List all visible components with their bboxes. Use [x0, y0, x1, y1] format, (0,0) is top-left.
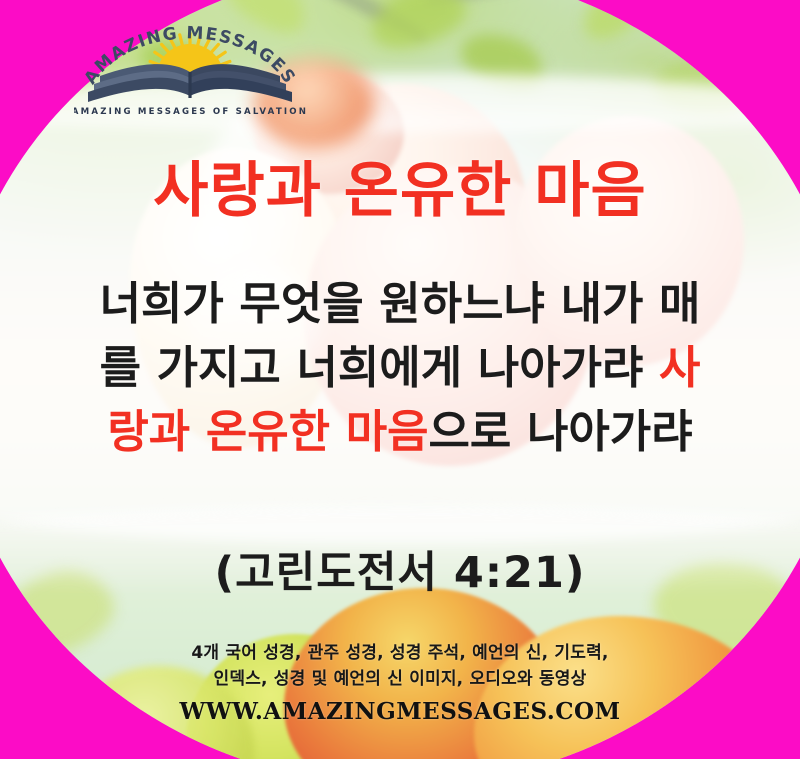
poster-title: 사랑과 온유한 마음 — [0, 160, 800, 223]
verse-line-2-highlight: 사 — [659, 341, 700, 394]
verse-line-3-plain: 으로 나아가랴 — [429, 405, 693, 458]
verse-line-1-plain: 너희가 무엇을 원하느냐 내가 매 — [100, 277, 701, 330]
verse-line-1: 너희가 무엇을 원하느냐 내가 매 — [8, 272, 792, 336]
verse-line-3: 랑과 온유한 마음으로 나아가랴 — [8, 400, 792, 464]
website-url[interactable]: WWW.AMAZINGMESSAGES.COM — [0, 698, 800, 725]
amazing-messages-logo: AMAZING MESSAGES AMAZING MESSAGES OF SAL… — [74, 14, 306, 118]
scripture-citation: (고린도전서 4:21) — [0, 538, 800, 600]
verse-line-2: 를 가지고 너희에게 나아가랴 사 — [8, 336, 792, 400]
verse-text: 너희가 무엇을 원하느냐 내가 매 를 가지고 너희에게 나아가랴 사 랑과 온… — [0, 272, 800, 464]
footer-line-1: 4개 국어 성경, 관주 성경, 성경 주석, 예언의 신, 기도력, — [0, 640, 800, 666]
logo-tagline: AMAZING MESSAGES OF SALVATION — [74, 107, 306, 117]
poster-canvas: AMAZING MESSAGES AMAZING MESSAGES OF SAL… — [0, 0, 800, 759]
verse-line-2-plain: 를 가지고 너희에게 나아가랴 — [100, 341, 659, 394]
verse-line-3-highlight: 랑과 온유한 마음 — [107, 405, 428, 458]
footer-line-2: 인덱스, 성경 및 예언의 신 이미지, 오디오와 동영상 — [0, 666, 800, 692]
footer-block: 4개 국어 성경, 관주 성경, 성경 주석, 예언의 신, 기도력, 인덱스,… — [0, 640, 800, 725]
